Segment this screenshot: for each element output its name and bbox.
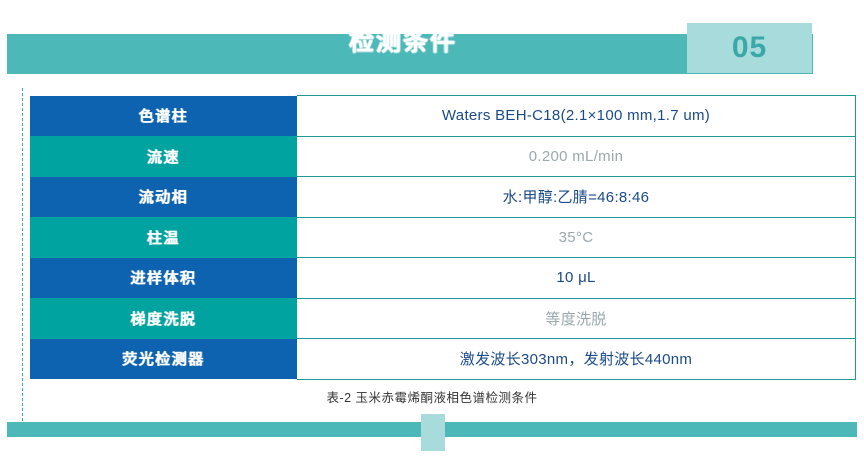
row-label-column: 流速 <box>30 136 297 177</box>
row-value-column: 35°C <box>297 217 856 258</box>
row-value-column: Waters BEH-C18(2.1×100 mm,1.7 um) <box>297 96 856 137</box>
table-row: 荧光检测器 激发波长303nm，发射波长440nm <box>30 339 856 380</box>
footer-accent-block <box>421 414 445 451</box>
dashed-guide-line <box>22 88 23 426</box>
table-row: 柱温 35°C <box>30 217 856 258</box>
table-body: 色谱柱 Waters BEH-C18(2.1×100 mm,1.7 um) 流速… <box>30 96 856 380</box>
row-value-column: 水:甲醇:乙腈=46:8:46 <box>297 177 856 218</box>
section-number-label: 05 <box>732 33 767 63</box>
table-row: 进样体积 10 μL <box>30 258 856 299</box>
row-label-column: 梯度洗脱 <box>30 298 297 339</box>
row-label-column: 进样体积 <box>30 258 297 299</box>
table-row: 色谱柱 Waters BEH-C18(2.1×100 mm,1.7 um) <box>30 96 856 137</box>
row-label-column: 流动相 <box>30 177 297 218</box>
row-value-column: 10 μL <box>297 258 856 299</box>
table-row: 流动相 水:甲醇:乙腈=46:8:46 <box>30 177 856 218</box>
page-title: 检测条件 <box>0 30 806 55</box>
row-value-column: 等度洗脱 <box>297 298 856 339</box>
table-row: 梯度洗脱 等度洗脱 <box>30 298 856 339</box>
detection-conditions-table: 色谱柱 Waters BEH-C18(2.1×100 mm,1.7 um) 流速… <box>30 95 856 380</box>
row-value-column: 激发波长303nm，发射波长440nm <box>297 339 856 380</box>
row-label-column: 色谱柱 <box>30 96 297 137</box>
table-caption: 表-2 玉米赤霉烯酮液相色谱检测条件 <box>0 387 864 406</box>
section-number-badge: 05 <box>687 23 812 73</box>
row-label-column: 柱温 <box>30 217 297 258</box>
row-label-column: 荧光检测器 <box>30 339 297 380</box>
table-row: 流速 0.200 mL/min <box>30 136 856 177</box>
row-value-column: 0.200 mL/min <box>297 136 856 177</box>
